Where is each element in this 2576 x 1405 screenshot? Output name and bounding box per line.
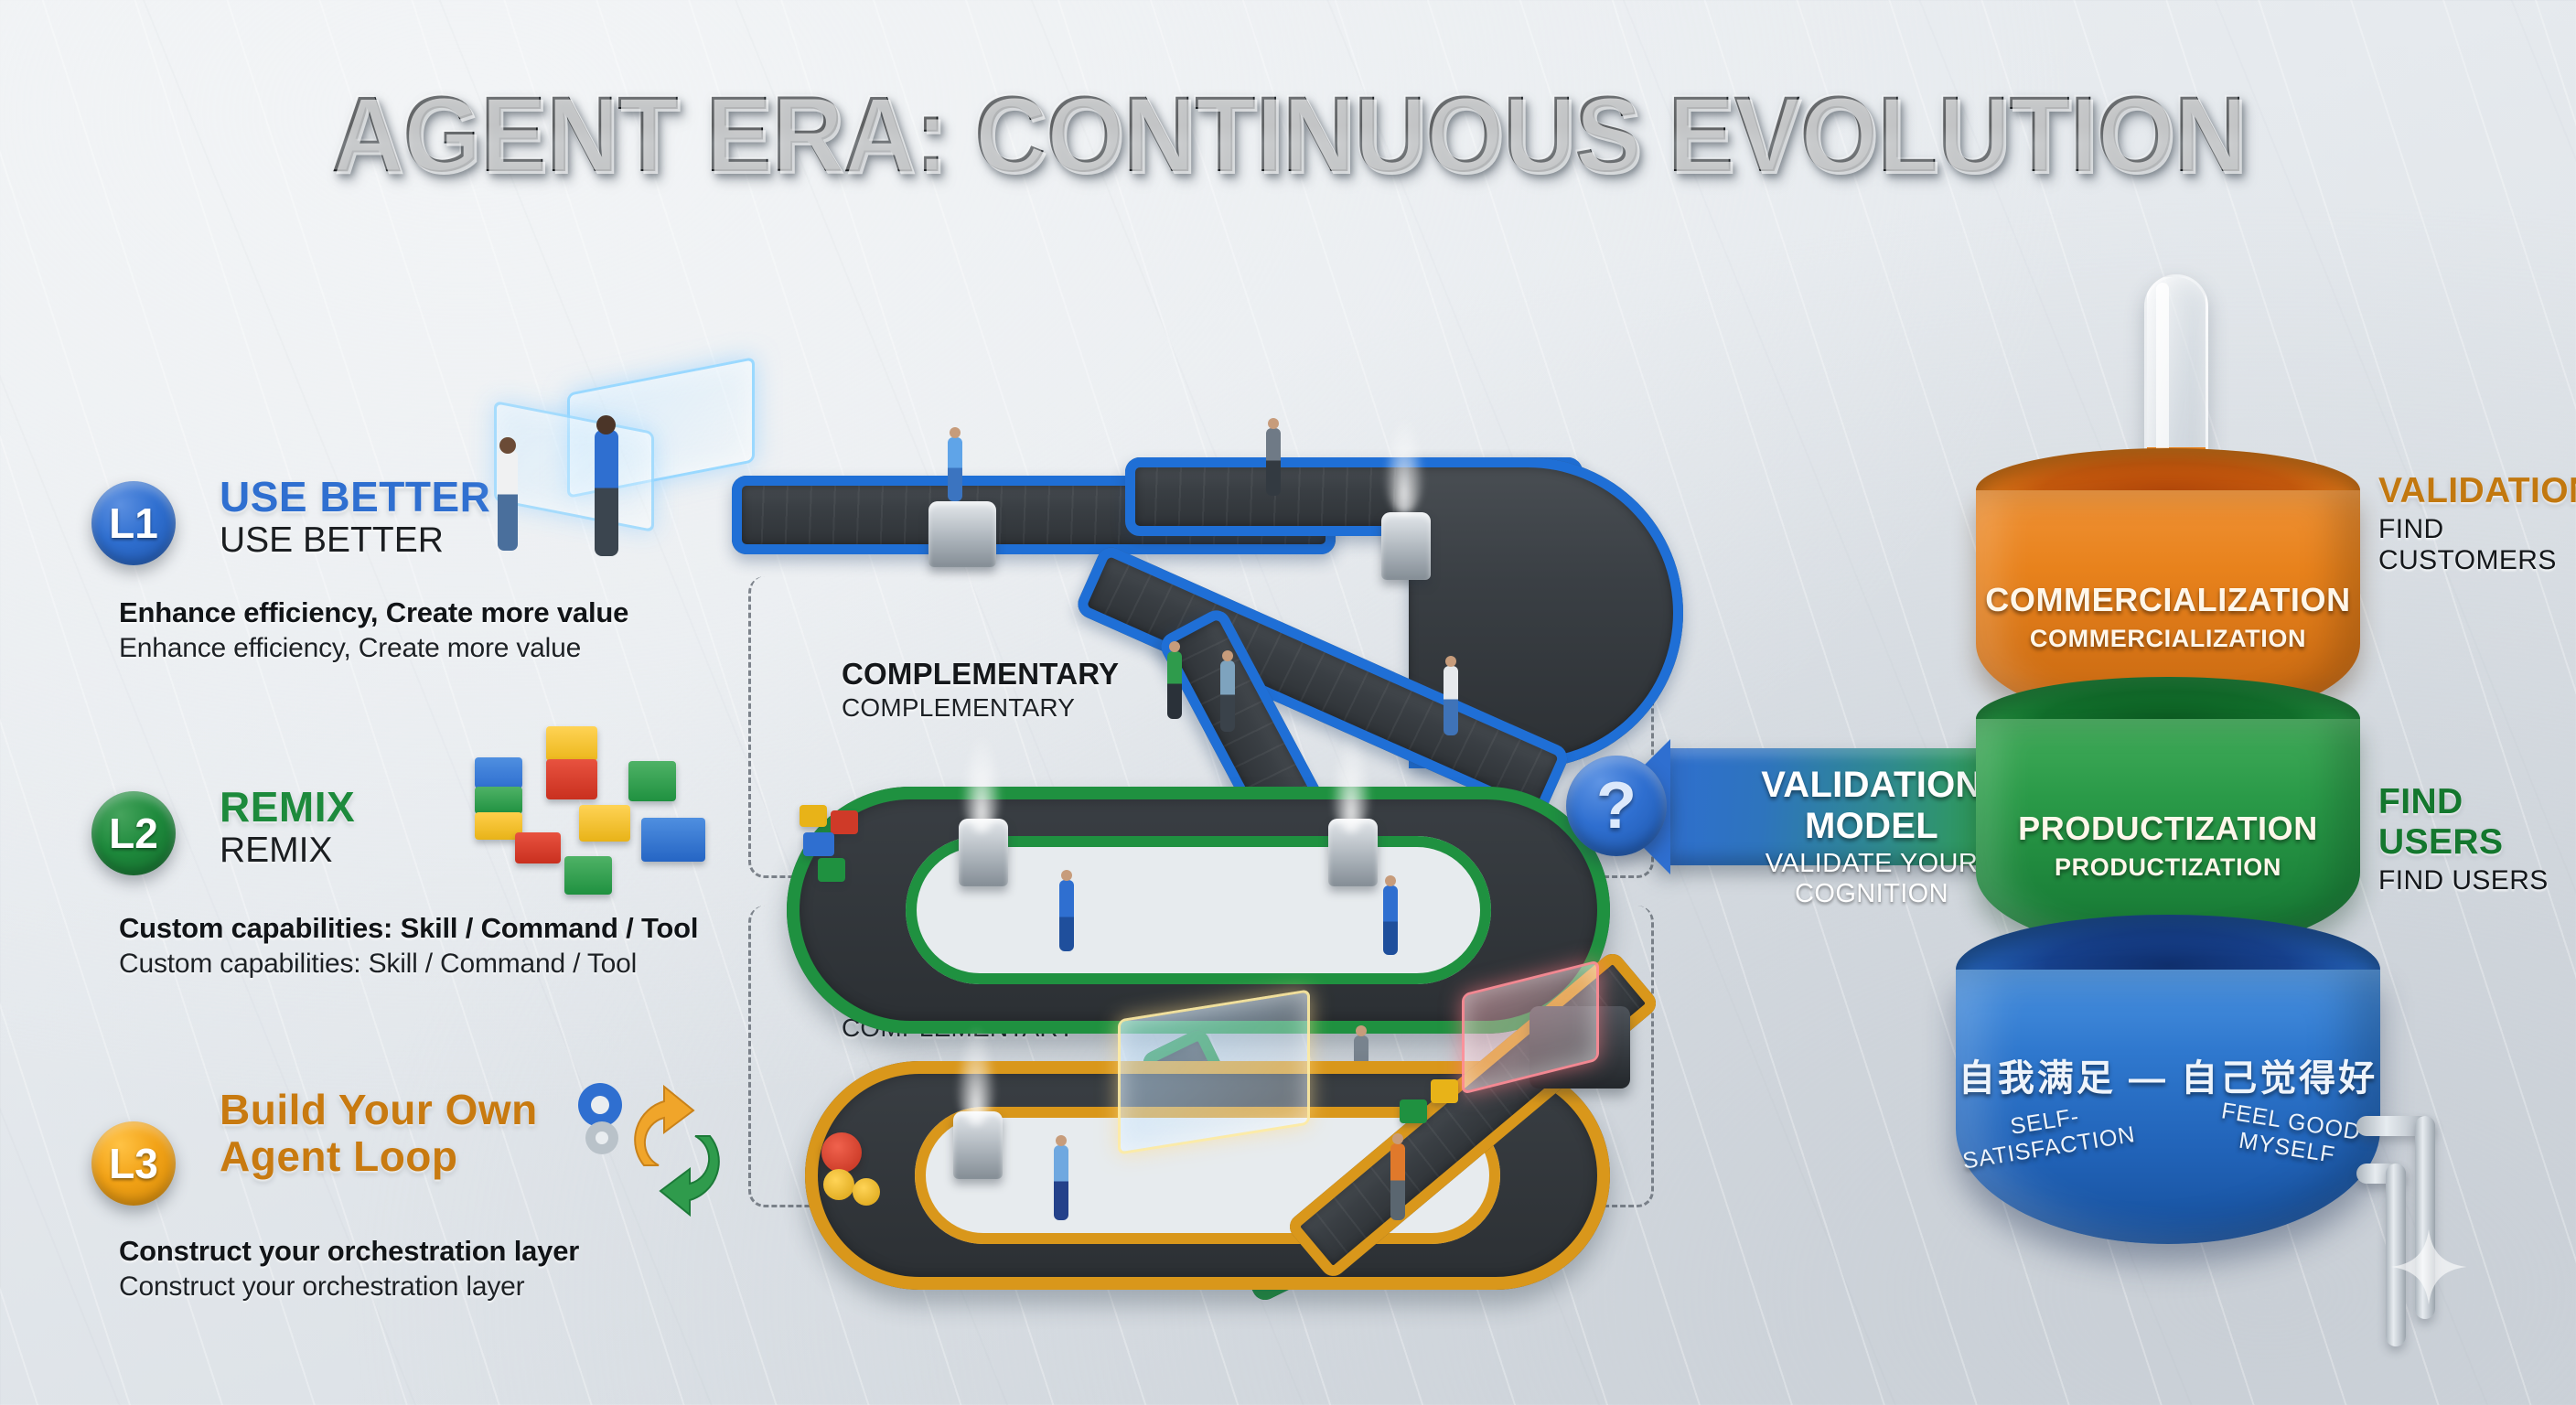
page-title: AGENT ERA: CONTINUOUS EVOLUTION (91, 80, 2486, 188)
question-mark-icon: ? (1566, 756, 1667, 856)
machine-unit-icon (1381, 512, 1431, 580)
lego-brick-yellow-top-icon (546, 726, 597, 761)
puzzle-piece-green-icon (1400, 1099, 1427, 1123)
sparkle-icon (2389, 1228, 2468, 1306)
steam-plume (1330, 732, 1372, 832)
level-title-l1: USE BETTER (220, 476, 490, 519)
steam-plume (961, 732, 1003, 832)
level-desc-regular-l3: Construct your orchestration layer (119, 1271, 579, 1303)
gear-cluster-icon (821, 1132, 913, 1215)
level-desc-regular-l1: Enhance efficiency, Create more value (119, 633, 628, 664)
puzzle-piece-green-icon (818, 858, 845, 882)
level-title-l3-line1: Build Your Own (220, 1089, 538, 1132)
level-badge-l2: L2 (91, 791, 176, 875)
ring-label: COMMERCIALIZATION (1976, 581, 2360, 619)
person-figure (1390, 1143, 1405, 1220)
level-desc-bold-l2: Custom capabilities: Skill / Command / T… (119, 912, 698, 945)
lego-brick-red-icon (546, 759, 597, 799)
level-badge-l3: L3 (91, 1121, 176, 1206)
connector-label-regular: COMPLEMENTARY (842, 693, 1119, 723)
person-figure (1167, 651, 1182, 719)
person-figure (498, 450, 518, 551)
gear-yellow-icon (823, 1169, 854, 1200)
side-label-validation: VALIDATION FIND CUSTOMERS (2378, 471, 2576, 576)
puzzle-piece-green-icon (628, 761, 676, 801)
gear-icon (556, 1078, 757, 1242)
person-figure (1054, 1145, 1068, 1220)
ring-label: PRODUCTIZATION (1976, 810, 2360, 848)
gear-red-icon (821, 1132, 862, 1173)
person-head-icon (499, 437, 516, 454)
funnel-stack: COMMERCIALIZATION COMMERCIALIZATION PROD… (1976, 274, 2360, 1308)
level-subtitle-l2: REMIX (220, 832, 355, 870)
steam-plume (955, 1024, 997, 1125)
circular-arrows-icon (635, 1087, 719, 1215)
gear-yellow-small-icon (853, 1178, 880, 1206)
machine-unit-icon (928, 501, 996, 567)
illustration-people-screen (457, 366, 732, 567)
level-desc-regular-l2: Custom capabilities: Skill / Command / T… (119, 949, 698, 980)
side-label-title: FIND USERS (2378, 782, 2576, 863)
person-figure (1444, 666, 1458, 735)
lego-cluster-icon (798, 805, 880, 887)
lego-brick-yellow-icon (800, 805, 827, 827)
illustration-gears-loop (556, 1078, 757, 1242)
puzzle-piece-green-small-icon (564, 856, 612, 895)
ring-label-echo: COMMERCIALIZATION (1976, 625, 2360, 653)
puzzle-piece-yellow-icon (1431, 1079, 1458, 1103)
level-subtitle-l1: USE BETTER (220, 522, 490, 560)
person-head-icon (596, 415, 616, 434)
validation-model-banner[interactable]: ? VALIDATION MODEL VALIDATE YOUR COGNITI… (1599, 748, 2029, 865)
person-figure (1266, 428, 1281, 496)
steam-plume (1383, 413, 1425, 514)
person-figure (1220, 660, 1235, 732)
lego-brick-red-icon (831, 810, 858, 834)
lego-brick-green-icon (475, 787, 522, 814)
lego-brick-blue-icon (803, 832, 834, 856)
side-label-title: VALIDATION (2378, 471, 2576, 511)
level-title-l3-line2: Agent Loop (220, 1135, 538, 1178)
infographic-canvas: AGENT ERA: CONTINUOUS EVOLUTION L1 USE B… (0, 0, 2576, 1405)
funnel-base[interactable]: 自我满足 — 自己觉得好 SELF-SATISFACTION FEEL GOOD… (1956, 915, 2380, 1262)
ring-label-echo: PRODUCTIZATION (1976, 853, 2360, 882)
level-desc-bold-l1: Enhance efficiency, Create more value (119, 596, 628, 629)
person-worker-figure (1383, 885, 1398, 955)
puzzle-on-ramp-icon (1400, 1079, 1464, 1125)
funnel-ring-productization[interactable]: PRODUCTIZATION PRODUCTIZATION (1976, 677, 2360, 951)
side-label-subtitle: FIND CUSTOMERS (2378, 514, 2576, 576)
person-figure (595, 430, 618, 556)
lego-brick-red-small-icon (515, 832, 561, 863)
person-figure (948, 437, 962, 501)
lego-brick-blue-icon (475, 757, 522, 788)
level-title-l2: REMIX (220, 786, 355, 829)
puzzle-piece-yellow-icon (579, 805, 630, 842)
base-label-chinese: 自我满足 — 自己觉得好 (1956, 1048, 2380, 1101)
connector-label-upper: COMPLEMENTARY COMPLEMENTARY (842, 657, 1119, 723)
level-desc-bold-l3: Construct your orchestration layer (119, 1235, 579, 1268)
puzzle-piece-blue-icon (641, 818, 705, 862)
level-badge-l1: L1 (91, 481, 176, 565)
person-worker-figure (1059, 880, 1074, 951)
connector-label-bold: COMPLEMENTARY (842, 657, 1119, 692)
illustration-lego-puzzle (462, 723, 736, 906)
side-label-subtitle: FIND USERS (2378, 865, 2576, 896)
side-label-find-users: FIND USERS FIND USERS (2378, 782, 2576, 896)
